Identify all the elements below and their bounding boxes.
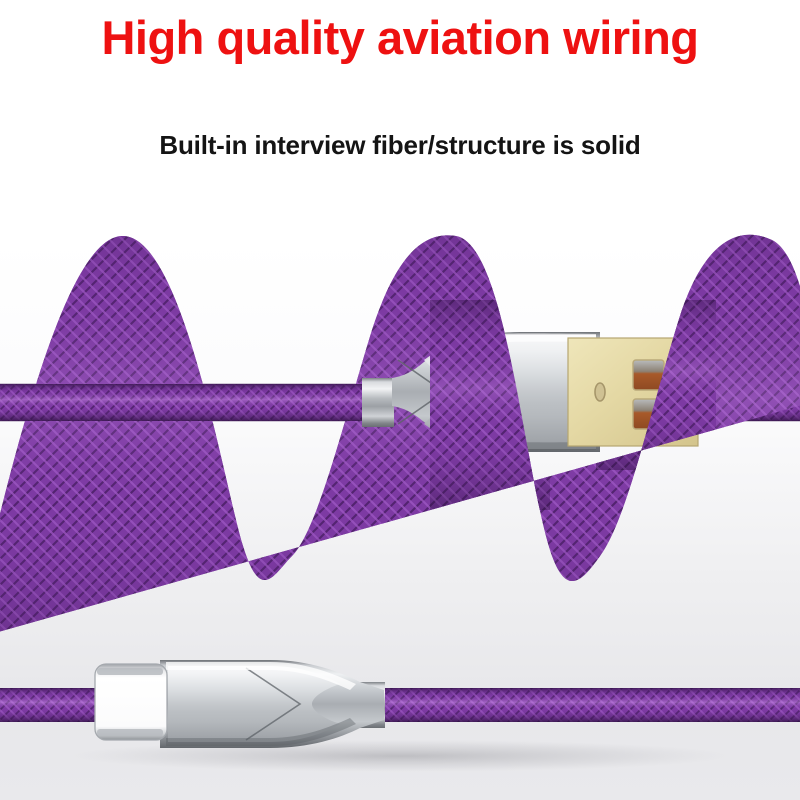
product-banner: High quality aviation wiring Built-in in… <box>0 0 800 800</box>
product-illustration <box>0 0 800 800</box>
usb-a-slot-upper <box>633 360 664 390</box>
usb-a-oval-hole <box>595 383 605 401</box>
usb-c-connector <box>95 660 385 748</box>
straight-cable-upper-overlap <box>0 384 390 421</box>
usb-c-tip <box>95 664 167 740</box>
